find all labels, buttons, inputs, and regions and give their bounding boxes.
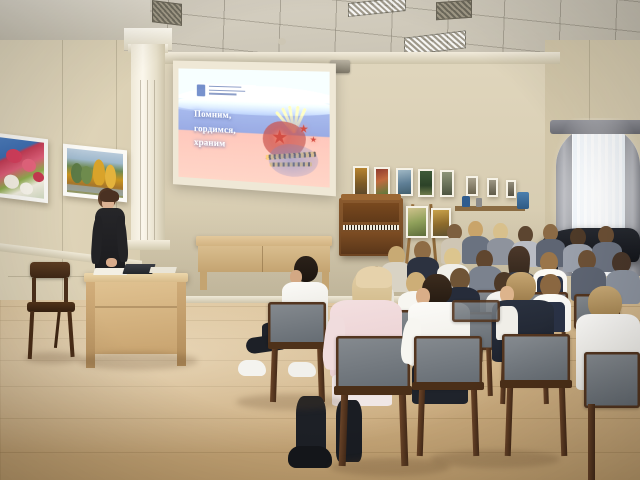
bench-top (196, 236, 332, 246)
artwork-3 (396, 168, 413, 196)
artwork-right-1 (466, 176, 478, 196)
chair-leg (588, 404, 595, 480)
desk-papers (149, 267, 177, 273)
ventilation-grille-icon (152, 0, 182, 26)
red-star-icon: ★ (299, 124, 309, 136)
artwork-right-3 (506, 180, 516, 198)
chair-back[interactable] (452, 300, 500, 322)
desk-shadow (78, 352, 198, 370)
red-star-icon: ★ (310, 136, 317, 145)
desk-body (86, 282, 186, 354)
water-cooler-icon (517, 192, 529, 209)
chair-back[interactable] (584, 352, 640, 408)
artwork-4 (418, 169, 434, 197)
chair-back[interactable] (502, 334, 570, 386)
artwork-1 (353, 166, 369, 196)
student-sneaker (288, 362, 316, 377)
presenter-hands (106, 258, 117, 267)
chair-seat-rail (412, 382, 484, 390)
presenter-hair-top (100, 190, 119, 202)
chair-back[interactable] (414, 336, 482, 388)
pilaster-base (126, 240, 170, 250)
chair-seat-rail (334, 386, 412, 395)
chair-shadow (24, 352, 82, 364)
chair-seat-rail (268, 342, 326, 349)
slide-ministry-logo-icon (197, 83, 256, 100)
artwork-5 (440, 170, 454, 197)
projection-screen: Помним, гордимся, храним ★ ★ ★ (173, 61, 336, 197)
artwork-2 (374, 167, 390, 196)
display-object-icon (462, 196, 470, 207)
projected-slide: Помним, гордимся, храним ★ ★ ★ (178, 68, 329, 187)
slide-title: Помним, гордимся, храним (194, 108, 264, 154)
student-hair-top (356, 266, 392, 288)
ceiling-sensor-icon (278, 38, 286, 45)
student-boot (288, 446, 332, 468)
display-object-icon (476, 198, 482, 207)
curtain-valance (550, 120, 640, 134)
painting-floral-still-life (0, 133, 48, 203)
floor-shadow (236, 394, 346, 410)
artwork-right-2 (487, 178, 498, 197)
floor-shadow (430, 450, 560, 468)
empty-chair-back[interactable] (30, 262, 70, 278)
chair-back[interactable] (336, 336, 410, 392)
student-sneaker (238, 360, 266, 376)
ventilation-grille-icon (436, 0, 472, 20)
easel-artwork-1 (406, 206, 428, 238)
pilaster-column (131, 44, 165, 244)
photo-scene: Помним, гордимся, храним ★ ★ ★ (0, 0, 640, 480)
chair-back[interactable] (268, 302, 326, 346)
chair-seat-rail (500, 380, 572, 388)
slide-artwork: ★ ★ ★ (259, 88, 328, 183)
